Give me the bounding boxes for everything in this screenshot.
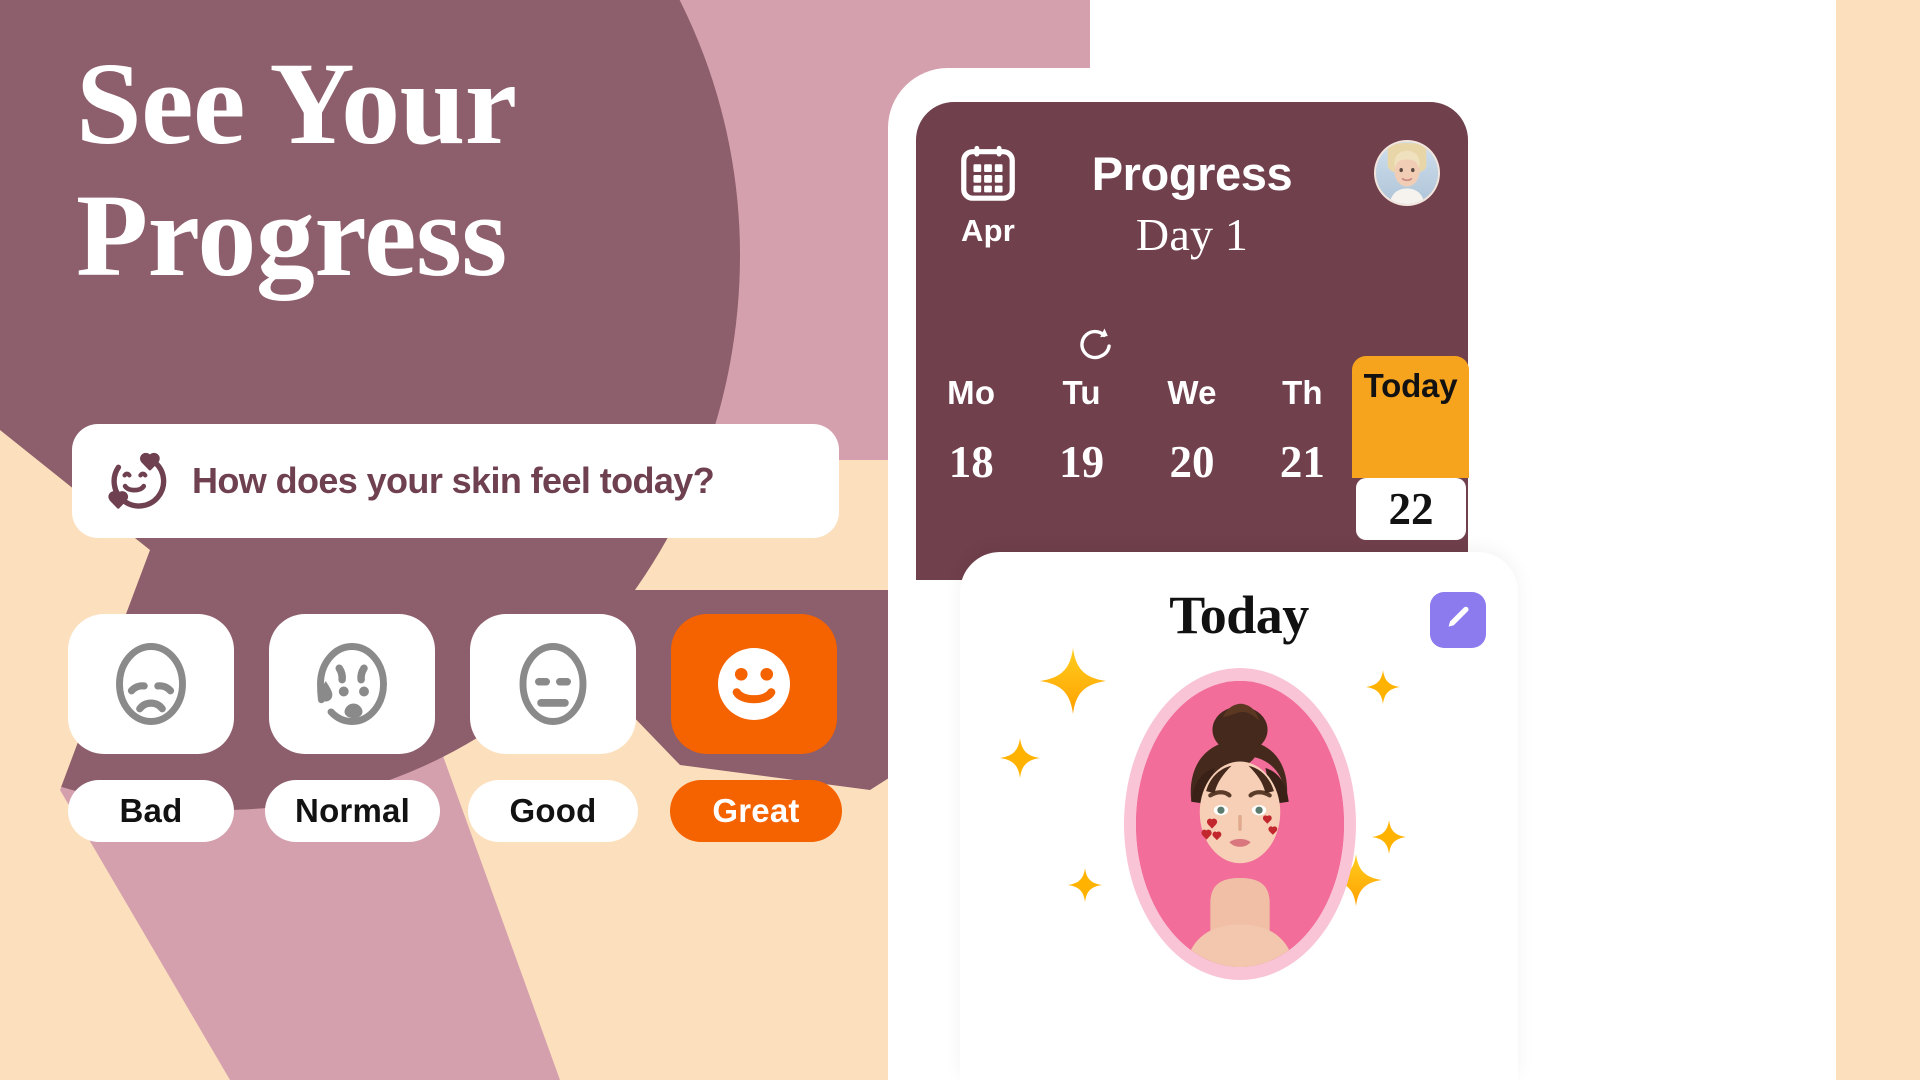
page-title: See Your Progress xyxy=(76,38,696,302)
sparkle-star-icon xyxy=(1068,868,1102,902)
mood-label-bad[interactable]: Bad xyxy=(68,780,234,842)
calendar-weekday-row: Mo Tu We Th xyxy=(916,374,1468,434)
date-number: 21 xyxy=(1247,436,1357,488)
weekday-label: Th xyxy=(1247,374,1357,412)
phone-app-header: Apr Progress Day 1 xyxy=(916,102,1468,580)
smiling-face-icon xyxy=(706,636,802,732)
refresh-icon[interactable] xyxy=(1076,324,1116,364)
sparkle-star-icon xyxy=(1372,820,1406,854)
calendar-date-18[interactable]: 18 xyxy=(916,436,1026,502)
worried-sweat-face-icon xyxy=(304,636,400,732)
sparkle-star-icon xyxy=(1040,648,1106,714)
photo-frame-inner xyxy=(1136,681,1344,967)
skin-feel-question-card: How does your skin feel today? xyxy=(72,424,839,538)
date-number: 18 xyxy=(916,436,1026,488)
today-progress-card: Today xyxy=(960,552,1518,1080)
avatar[interactable] xyxy=(1374,140,1440,206)
mood-label-great[interactable]: Great xyxy=(670,780,842,842)
date-number: 20 xyxy=(1137,436,1247,488)
page-title-line-1: See Your xyxy=(76,38,517,169)
calendar-date-today-spacer xyxy=(1358,436,1468,502)
sad-face-icon xyxy=(103,636,199,732)
weekday-label: Tu xyxy=(1026,374,1136,412)
header-top-row: Apr Progress Day 1 xyxy=(916,140,1468,244)
mood-label-normal[interactable]: Normal xyxy=(265,780,440,842)
mood-button-row xyxy=(68,614,868,754)
calendar-day-mo[interactable]: Mo xyxy=(916,374,1026,434)
page-title-line-2: Progress xyxy=(76,170,696,302)
calendar-day-today-spacer xyxy=(1358,374,1468,434)
neutral-face-icon xyxy=(505,636,601,732)
app-header-subtitle: Day 1 xyxy=(916,208,1468,261)
calendar-day-we[interactable]: We xyxy=(1137,374,1247,434)
mood-label-good[interactable]: Good xyxy=(468,780,638,842)
date-number: 19 xyxy=(1026,436,1136,488)
calendar-date-row: 18 19 20 21 xyxy=(916,436,1468,502)
skin-feel-question-text: How does your skin feel today? xyxy=(192,460,714,502)
weekday-label: We xyxy=(1137,374,1247,412)
mood-label-row: Bad Normal Good Great xyxy=(68,780,878,842)
mood-button-good[interactable] xyxy=(470,614,636,754)
calendar-date-21[interactable]: 21 xyxy=(1247,436,1357,502)
pencil-icon xyxy=(1443,603,1473,638)
progress-photo-frame[interactable] xyxy=(1124,668,1356,980)
calendar-day-th[interactable]: Th xyxy=(1247,374,1357,434)
sparkle-star-icon xyxy=(1366,670,1400,704)
mood-button-great[interactable] xyxy=(671,614,837,754)
calendar-date-20[interactable]: 20 xyxy=(1137,436,1247,502)
calendar-day-tu[interactable]: Tu xyxy=(1026,374,1136,434)
weekday-label: Mo xyxy=(916,374,1026,412)
mood-button-normal[interactable] xyxy=(269,614,435,754)
sparkle-star-icon xyxy=(1000,738,1040,778)
background-peach-right-edge xyxy=(1836,0,1920,1080)
poster-canvas: See Your Progress How does your skin fee… xyxy=(0,0,1920,1080)
calendar-date-19[interactable]: 19 xyxy=(1026,436,1136,502)
smiley-heart-icon xyxy=(104,448,170,514)
edit-photo-button[interactable] xyxy=(1430,592,1486,648)
mood-button-bad[interactable] xyxy=(68,614,234,754)
